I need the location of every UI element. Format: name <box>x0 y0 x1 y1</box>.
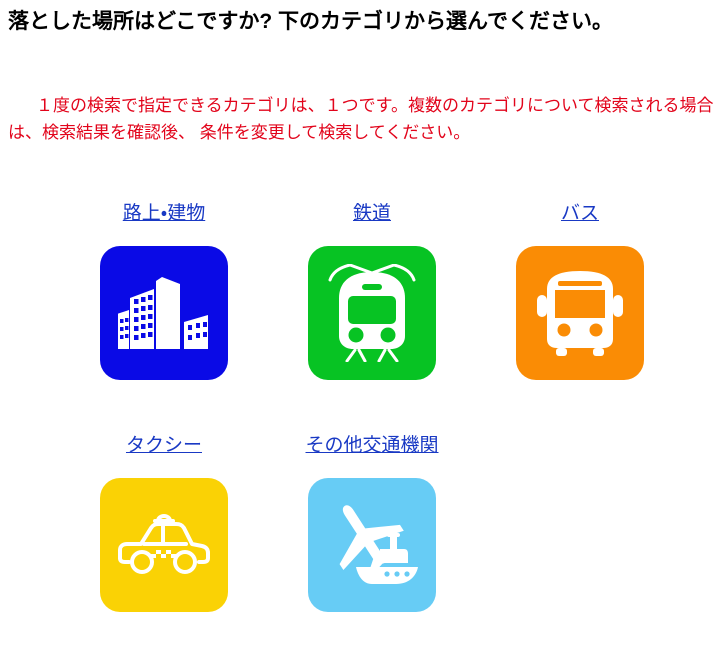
category-link-other-transport[interactable]: その他交通機関 <box>306 434 439 458</box>
category-link-railway[interactable]: 鉄道 <box>353 202 391 226</box>
category-row-1: 路上・建物 <box>100 202 728 434</box>
category-tile-railway[interactable] <box>308 246 436 380</box>
category-tile-other-transport[interactable] <box>308 478 436 612</box>
category-link-taxi[interactable]: タクシー <box>126 434 202 458</box>
plane-ship-icon <box>320 493 424 597</box>
category-item-taxi[interactable]: タクシー <box>100 434 228 612</box>
category-item-street-building[interactable]: 路上・建物 <box>100 202 228 380</box>
category-tile-bus[interactable] <box>516 246 644 380</box>
category-row-2: タクシー <box>100 434 728 666</box>
category-link-bus[interactable]: バス <box>561 202 599 226</box>
bus-icon <box>534 267 626 359</box>
category-tile-taxi[interactable] <box>100 478 228 612</box>
category-link-street-building[interactable]: 路上・建物 <box>123 202 205 226</box>
category-item-other-transport[interactable]: その他交通機関 <box>308 434 436 612</box>
train-icon <box>325 264 419 362</box>
category-tile-street-building[interactable] <box>100 246 228 380</box>
category-item-railway[interactable]: 鉄道 <box>308 202 436 380</box>
page-title: 落とした場所はどこですか? 下のカテゴリから選んでください。 <box>8 6 720 38</box>
building-icon <box>118 267 210 359</box>
category-item-bus[interactable]: バス <box>516 202 644 380</box>
taxi-icon <box>114 510 214 580</box>
category-grid: 路上・建物 <box>0 202 728 666</box>
instruction-note: １度の検索で指定できるカテゴリは、１つです。複数のカテゴリについて検索される場合… <box>8 92 716 146</box>
